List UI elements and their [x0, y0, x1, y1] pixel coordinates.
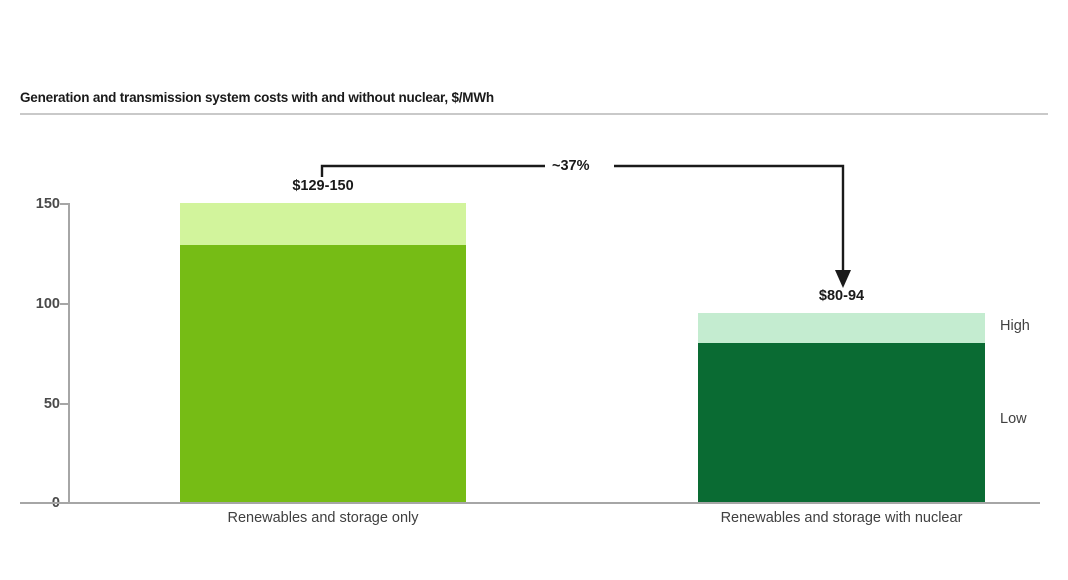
bar-renewables-and-storage-only[interactable]: [180, 203, 466, 502]
delta-percent-label: ~37%: [552, 158, 590, 174]
y-tick-100: [60, 303, 68, 305]
bar-segment-low[interactable]: [698, 343, 985, 502]
legend-item-low: Low: [1000, 411, 1027, 427]
y-axis-label-50: 50: [44, 396, 60, 412]
x-axis-category-with-nuclear: Renewables and storage with nuclear: [698, 510, 985, 526]
y-tick-150: [60, 203, 68, 205]
bar-segment-high[interactable]: [180, 203, 466, 245]
y-axis-label-100: 100: [36, 296, 60, 312]
bar-segment-high[interactable]: [698, 313, 985, 343]
y-tick-50: [60, 403, 68, 405]
bar-renewables-and-storage-with-nuclear[interactable]: [698, 313, 985, 502]
x-axis-line: [20, 502, 1040, 504]
arrow-head-icon: [835, 270, 851, 288]
chart-plot-area: 150 100 50 0 $129-150 Renewables and sto…: [0, 0, 1068, 580]
bar-segment-low[interactable]: [180, 245, 466, 502]
bar-value-label-with-nuclear: $80-94: [698, 288, 985, 304]
bar-value-label-renewables-only: $129-150: [180, 178, 466, 194]
y-axis-label-150: 150: [36, 196, 60, 212]
legend-item-high: High: [1000, 318, 1030, 334]
y-axis-line: [68, 203, 70, 503]
x-axis-category-renewables-only: Renewables and storage only: [180, 510, 466, 526]
